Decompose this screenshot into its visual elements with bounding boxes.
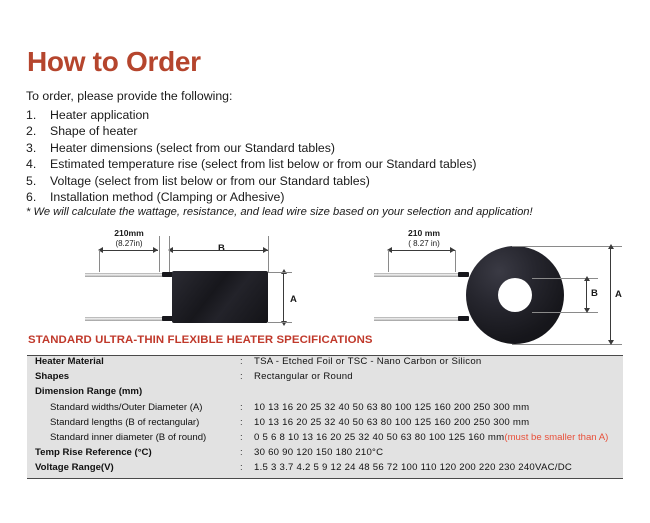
round-outer-dim-line — [610, 247, 611, 343]
list-item-label: Heater dimensions (select from our Stand… — [50, 140, 626, 156]
row-colon: : — [240, 432, 254, 443]
list-item: 1. Heater application — [26, 107, 626, 123]
round-lead-wire-top — [374, 273, 462, 277]
rect-lead-wire-top — [85, 273, 170, 277]
round-outer-arrow-up — [608, 244, 614, 249]
rect-width-ext-left — [169, 236, 170, 272]
row-label: Heater Material — [35, 356, 240, 367]
row-value: 1.5 3 3.7 4.2 5 9 12 24 48 56 72 100 110… — [254, 462, 623, 473]
row-value: 30 60 90 120 150 180 210°C — [254, 447, 623, 458]
rect-lead-length-label: 210mm (8.27in) — [84, 229, 174, 248]
round-outer-arrow-down — [608, 340, 614, 345]
list-item: 5. Voltage (select from list below or fr… — [26, 173, 626, 189]
rect-heater-body — [172, 271, 268, 323]
list-item: 2. Shape of heater — [26, 123, 626, 139]
round-lead-ext-right — [455, 250, 456, 272]
table-row: Standard widths/Outer Diameter (A) : 10 … — [27, 402, 623, 417]
round-lead-wire-bottom — [374, 317, 462, 321]
list-item-label: Estimated temperature rise (select from … — [50, 156, 626, 172]
row-label: Temp Rise Reference (°C) — [35, 447, 240, 458]
row-warning-text: (must be smaller than A) — [504, 432, 608, 443]
round-lead-length-label: 210 mm ( 8.27 in) — [376, 229, 472, 248]
list-item-number: 5. — [26, 173, 50, 189]
round-lead-connector-top — [458, 272, 469, 277]
rect-lead-wire-bottom — [85, 317, 170, 321]
row-value: Rectangular or Round — [254, 371, 623, 382]
order-steps-list: 1. Heater application 2. Shape of heater… — [26, 107, 626, 205]
round-lead-ext-left — [388, 250, 389, 272]
rect-height-ext-bottom — [268, 322, 292, 323]
rect-height-ext-top — [268, 272, 292, 273]
rect-width-ext-right — [268, 236, 269, 272]
table-row: Shapes : Rectangular or Round — [27, 371, 623, 386]
row-label: Dimension Range (mm) — [35, 386, 240, 397]
heater-diagrams: 210mm (8.27in) B A 210 mm — [0, 228, 650, 340]
row-value: 10 13 16 20 25 32 40 50 63 80 100 125 16… — [254, 402, 623, 413]
page-title: How to Order — [27, 48, 201, 76]
round-outer-ext-bottom — [512, 344, 622, 345]
rect-height-dim-line — [283, 273, 284, 322]
row-value: 0 5 6 8 10 13 16 20 25 32 40 50 63 80 10… — [254, 432, 623, 443]
list-item-label: Voltage (select from list below or from … — [50, 173, 626, 189]
list-item-number: 4. — [26, 156, 50, 172]
round-outer-letter: A — [615, 289, 622, 300]
intro-text: To order, please provide the following: — [26, 89, 232, 103]
round-inner-dim-line — [586, 279, 587, 311]
list-item: 4. Estimated temperature rise (select fr… — [26, 156, 626, 172]
table-row: Heater Material : TSA - Etched Foil or T… — [27, 356, 623, 371]
table-row: Temp Rise Reference (°C) : 30 60 90 120 … — [27, 447, 623, 462]
list-item-number: 3. — [26, 140, 50, 156]
list-item-number: 1. — [26, 107, 50, 123]
row-colon: : — [240, 462, 254, 473]
row-colon: : — [240, 356, 254, 367]
row-colon: : — [240, 417, 254, 428]
row-colon: : — [240, 447, 254, 458]
spec-section-title: STANDARD ULTRA-THIN FLEXIBLE HEATER SPEC… — [28, 334, 373, 346]
table-row: Dimension Range (mm) — [27, 386, 623, 401]
list-item-number: 2. — [26, 123, 50, 139]
row-value-text: 0 5 6 8 10 13 16 20 25 32 40 50 63 80 10… — [254, 432, 504, 443]
row-label: Standard lengths (B of rectangular) — [35, 417, 240, 428]
rect-lead-dim-line-left — [100, 250, 158, 251]
list-item: 6. Installation method (Clamping or Adhe… — [26, 189, 626, 205]
row-label: Shapes — [35, 371, 240, 382]
round-lead-dim-line — [389, 250, 455, 251]
list-item-label: Installation method (Clamping or Adhesiv… — [50, 189, 626, 205]
round-heater-inner-hole — [498, 278, 532, 312]
calculation-note: * We will calculate the wattage, resista… — [26, 206, 533, 218]
round-inner-arrow-down — [584, 308, 590, 313]
list-item-number: 6. — [26, 189, 50, 205]
table-row: Voltage Range(V) : 1.5 3 3.7 4.2 5 9 12 … — [27, 462, 623, 477]
spec-table: Heater Material : TSA - Etched Foil or T… — [27, 355, 623, 479]
table-row: Standard inner diameter (B of round) : 0… — [27, 432, 623, 447]
list-item-label: Shape of heater — [50, 123, 626, 139]
round-lead-connector-bottom — [458, 316, 469, 321]
round-inner-letter: B — [591, 288, 598, 299]
row-colon: : — [240, 371, 254, 382]
rect-lead-ext-left — [99, 250, 100, 272]
table-row: Standard lengths (B of rectangular) : 10… — [27, 417, 623, 432]
rect-width-letter: B — [218, 243, 225, 254]
rect-width-dim-line — [170, 250, 268, 251]
round-outer-ext-top — [512, 246, 622, 247]
row-label: Standard inner diameter (B of round) — [35, 432, 240, 443]
rect-lead-arrow-right — [153, 247, 158, 253]
round-inner-arrow-up — [584, 276, 590, 281]
rect-height-letter: A — [290, 294, 297, 305]
rectangular-heater-diagram: 210mm (8.27in) B A — [62, 228, 337, 340]
row-value: TSA - Etched Foil or TSC - Nano Carbon o… — [254, 356, 623, 367]
row-label: Standard widths/Outer Diameter (A) — [35, 402, 240, 413]
list-item: 3. Heater dimensions (select from our St… — [26, 140, 626, 156]
list-item-label: Heater application — [50, 107, 626, 123]
row-colon: : — [240, 402, 254, 413]
row-label: Voltage Range(V) — [35, 462, 240, 473]
round-heater-diagram: 210 mm ( 8.27 in) B A — [362, 228, 647, 340]
row-value: 10 13 16 20 25 32 40 50 63 80 100 125 16… — [254, 417, 623, 428]
rect-lead-ext-right — [159, 236, 160, 272]
